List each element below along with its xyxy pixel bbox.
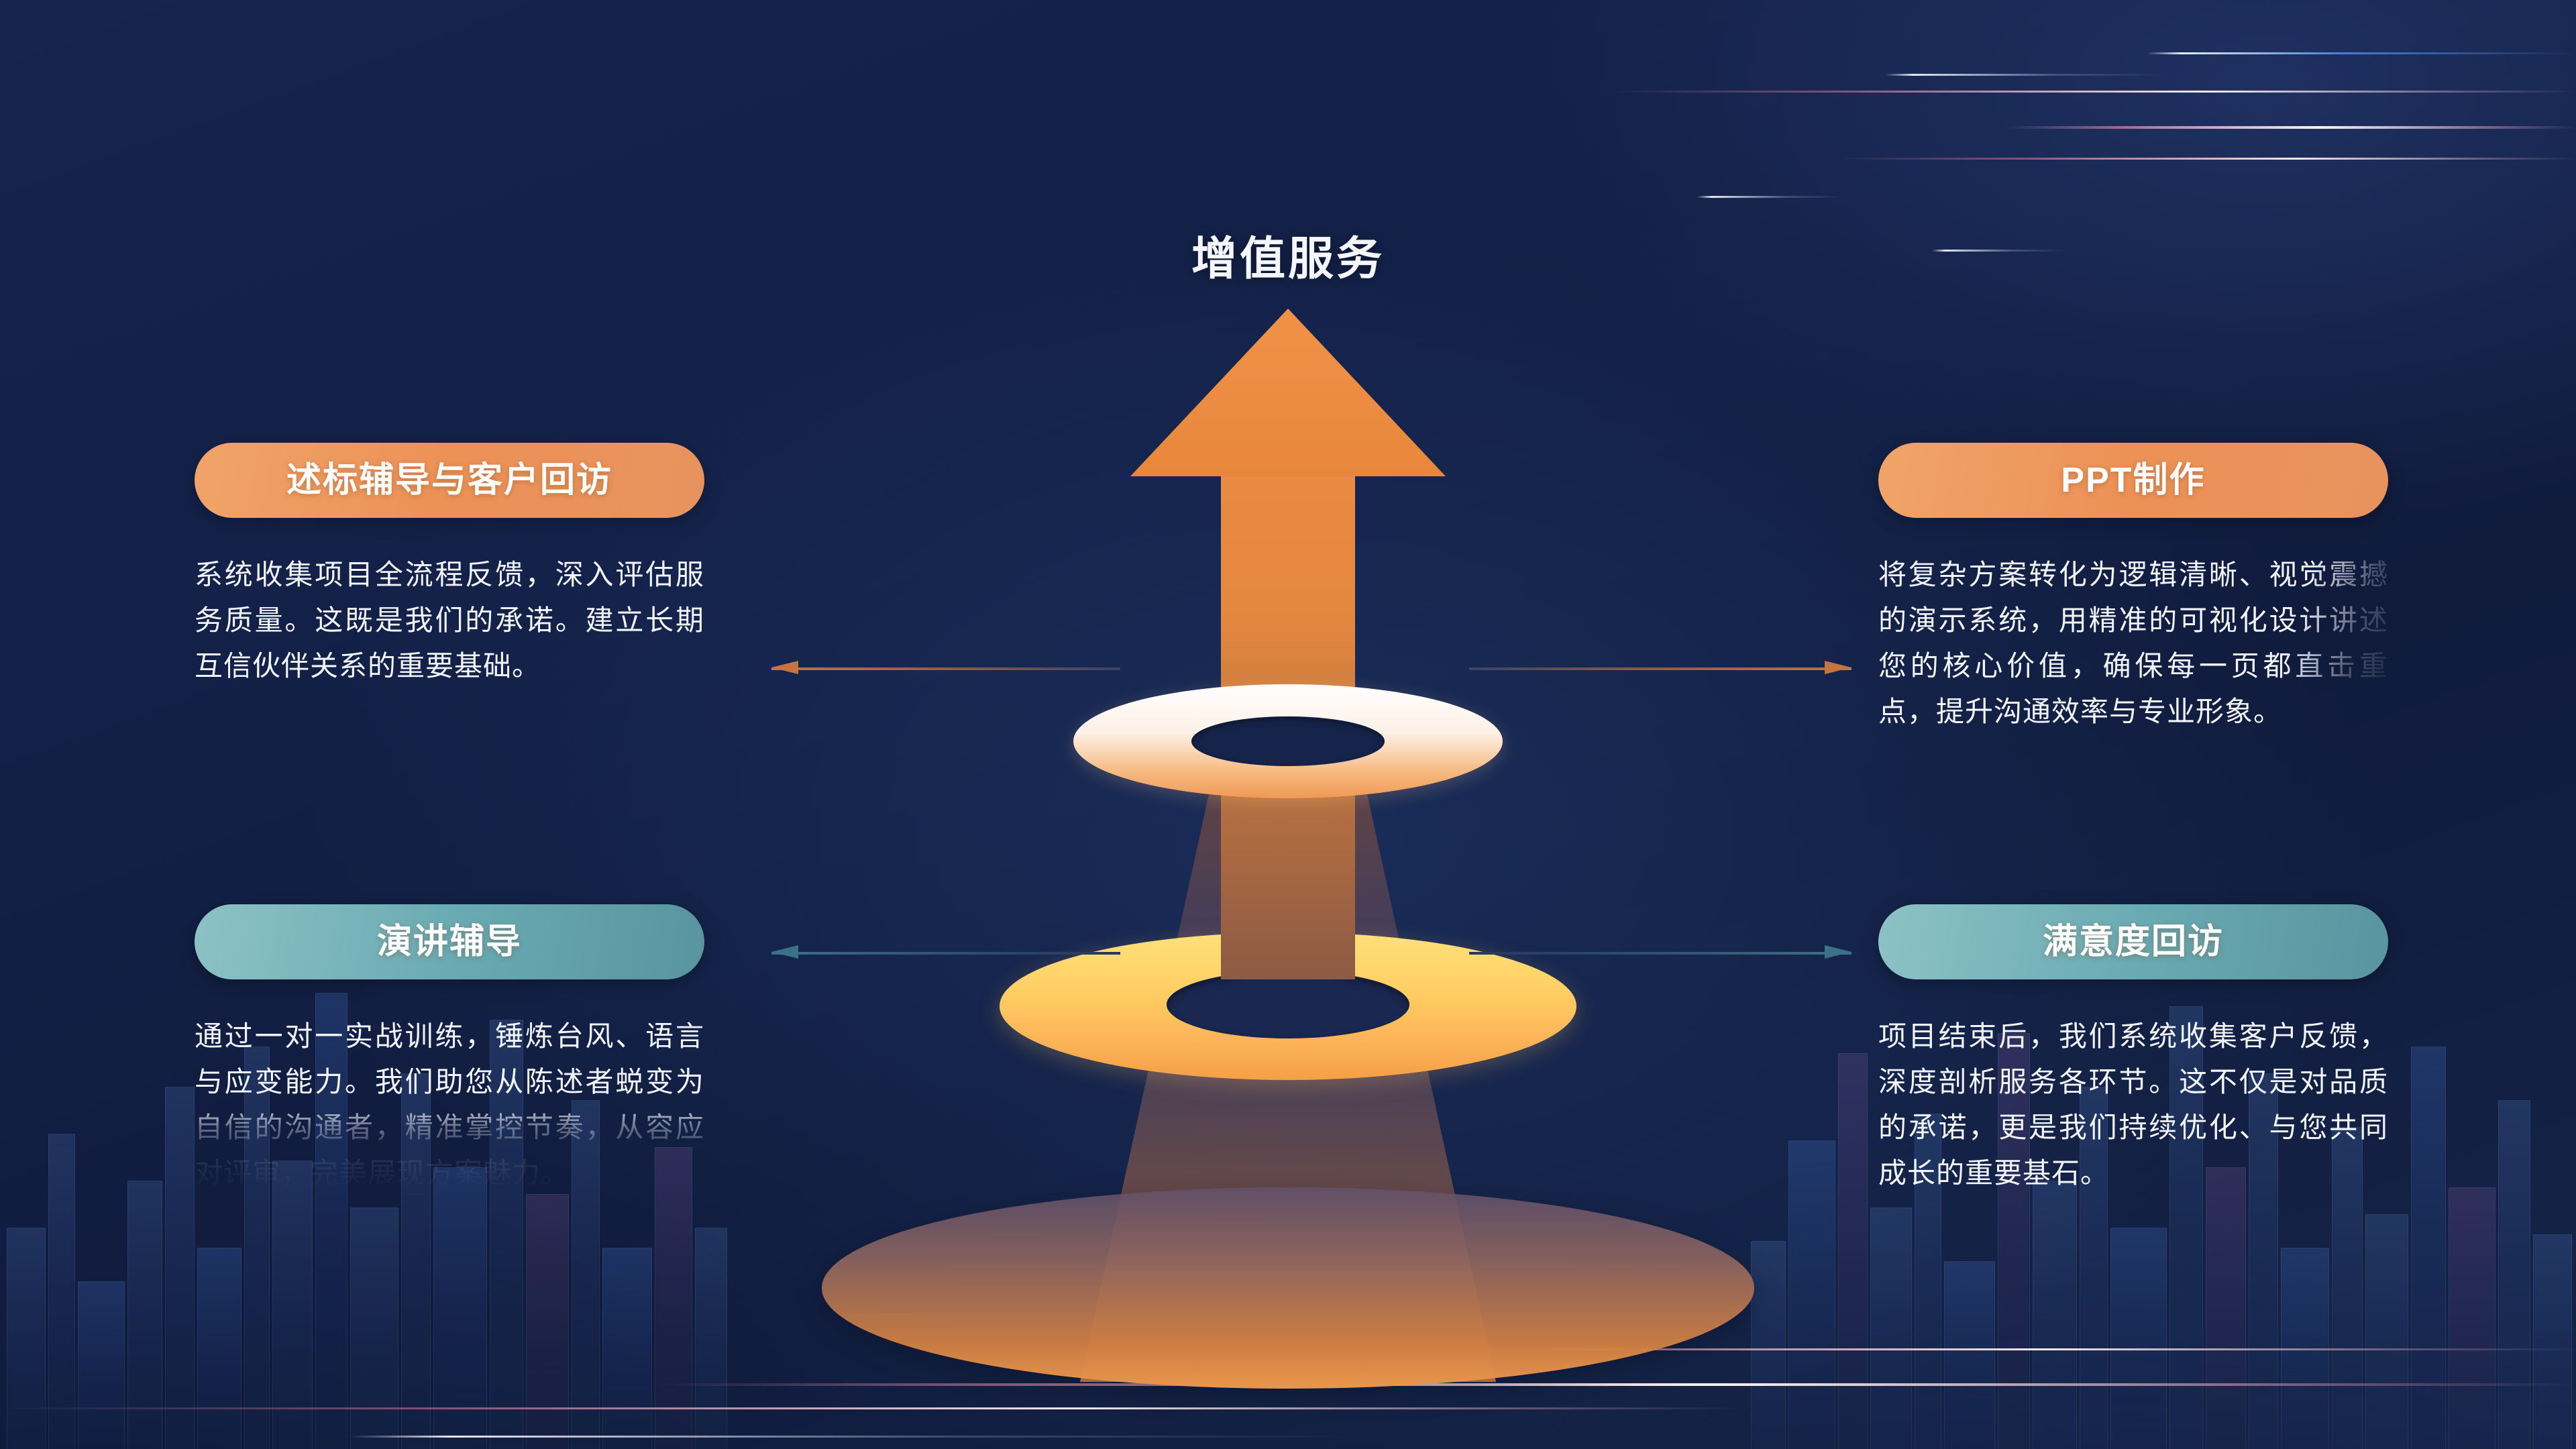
building bbox=[2498, 1100, 2530, 1449]
connector-arrow-top-right bbox=[1469, 666, 1851, 672]
light-streak bbox=[2006, 126, 2576, 129]
building bbox=[1944, 1261, 1995, 1449]
building bbox=[2411, 1046, 2446, 1449]
panel-body-bottom-right: 项目结束后，我们系统收集客户反馈，深度剖析服务各环节。这不仅是对品质的承诺，更是… bbox=[1878, 1014, 2388, 1197]
badge-shubiao-fudao[interactable]: 述标辅导与客户回访 bbox=[195, 443, 704, 518]
connector-line bbox=[1469, 667, 1851, 670]
building bbox=[602, 1248, 652, 1449]
building bbox=[7, 1228, 46, 1449]
connector-line bbox=[771, 667, 1120, 670]
up-arrow-icon bbox=[1130, 309, 1446, 476]
light-streak bbox=[1841, 158, 2576, 160]
center-funnel-graphic bbox=[671, 309, 1905, 1395]
page-title: 增值服务 bbox=[0, 221, 2576, 288]
light-streak bbox=[1885, 74, 2167, 76]
badge-yanjiang-fudao[interactable]: 演讲辅导 bbox=[195, 904, 704, 979]
building bbox=[2033, 1181, 2077, 1449]
panel-top-right: PPT制作 将复杂方案转化为逻辑清晰、视觉震撼的演示系统，用精准的可视化设计讲述… bbox=[1878, 443, 2388, 735]
building bbox=[433, 1167, 487, 1449]
badge-manyidu-huifang[interactable]: 满意度回访 bbox=[1878, 904, 2388, 979]
connector-arrow-bottom-left bbox=[771, 951, 1120, 956]
building bbox=[2281, 1248, 2329, 1449]
building bbox=[526, 1194, 569, 1449]
panel-body-top-left: 系统收集项目全流程反馈，深入评估服务质量。这既是我们的承诺。建立长期互信伙伴关系… bbox=[195, 553, 704, 690]
connector-arrow-bottom-right bbox=[1469, 951, 1851, 956]
light-streak bbox=[1697, 196, 1845, 198]
panel-bottom-left: 演讲辅导 通过一对一实战训练，锤炼台风、语言与应变能力。我们助您从陈述者蜕变为自… bbox=[195, 904, 704, 1197]
building bbox=[2533, 1234, 2572, 1449]
white-ring-hole bbox=[1191, 716, 1385, 767]
building bbox=[2449, 1187, 2495, 1449]
building bbox=[165, 1087, 195, 1449]
panel-bottom-right: 满意度回访 项目结束后，我们系统收集客户反馈，深度剖析服务各环节。这不仅是对品质… bbox=[1878, 904, 2388, 1197]
building bbox=[2365, 1214, 2408, 1449]
light-streak bbox=[1610, 91, 2576, 93]
building bbox=[350, 1207, 398, 1449]
building bbox=[197, 1248, 241, 1449]
light-streak bbox=[0, 1407, 1744, 1409]
gold-ring-hole bbox=[1167, 971, 1409, 1038]
light-streak bbox=[2147, 52, 2576, 54]
panel-body-top-right: 将复杂方案转化为逻辑清晰、视觉震撼的演示系统，用精准的可视化设计讲述您的核心价值… bbox=[1878, 553, 2388, 735]
building bbox=[272, 1161, 313, 1449]
panel-body-bottom-left: 通过一对一实战训练，锤炼台风、语言与应变能力。我们助您从陈述者蜕变为自信的沟通者… bbox=[195, 1014, 704, 1197]
panel-top-left: 述标辅导与客户回访 系统收集项目全流程反馈，深入评估服务质量。这既是我们的承诺。… bbox=[195, 443, 704, 690]
building bbox=[127, 1181, 162, 1449]
light-streak bbox=[349, 1436, 1355, 1438]
connector-line bbox=[771, 952, 1120, 955]
connector-line bbox=[1469, 952, 1851, 955]
connector-arrow-top-left bbox=[771, 666, 1120, 672]
funnel-base-ellipse bbox=[822, 1187, 1754, 1389]
building bbox=[2206, 1167, 2246, 1449]
badge-ppt-zhizuo[interactable]: PPT制作 bbox=[1878, 443, 2388, 518]
white-ring bbox=[1073, 684, 1503, 798]
slide-canvas: 增值服务 述标辅导与客户回访 系统收集项目全流程反馈，深入评估服务质量 bbox=[0, 0, 2576, 1449]
building bbox=[78, 1281, 125, 1449]
building bbox=[48, 1134, 75, 1449]
building bbox=[2110, 1228, 2167, 1449]
